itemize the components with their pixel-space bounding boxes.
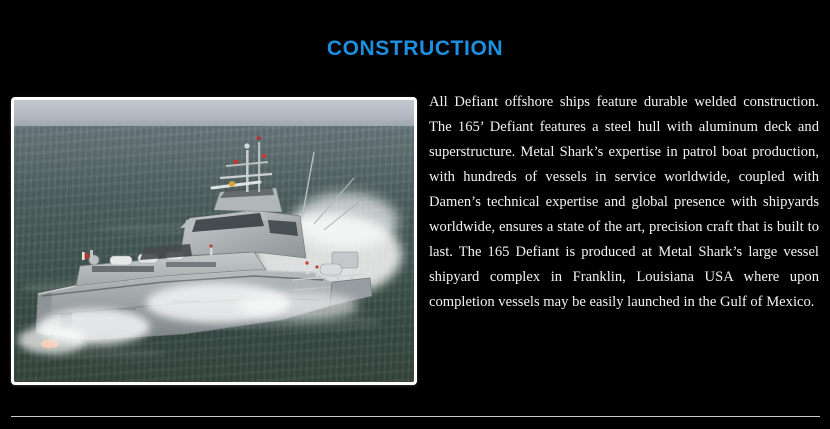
- photo-spray: [238, 292, 358, 320]
- vessel-photo-frame: [11, 97, 417, 385]
- vessel-photo: [14, 100, 414, 382]
- section-divider: [11, 416, 820, 417]
- page-title: CONSTRUCTION: [0, 36, 830, 62]
- photo-spray: [18, 326, 86, 354]
- content-row: All Defiant offshore ships feature durab…: [0, 90, 830, 390]
- construction-paragraph: All Defiant offshore ships feature durab…: [429, 90, 819, 315]
- page-root: CONSTRUCTION: [0, 0, 830, 429]
